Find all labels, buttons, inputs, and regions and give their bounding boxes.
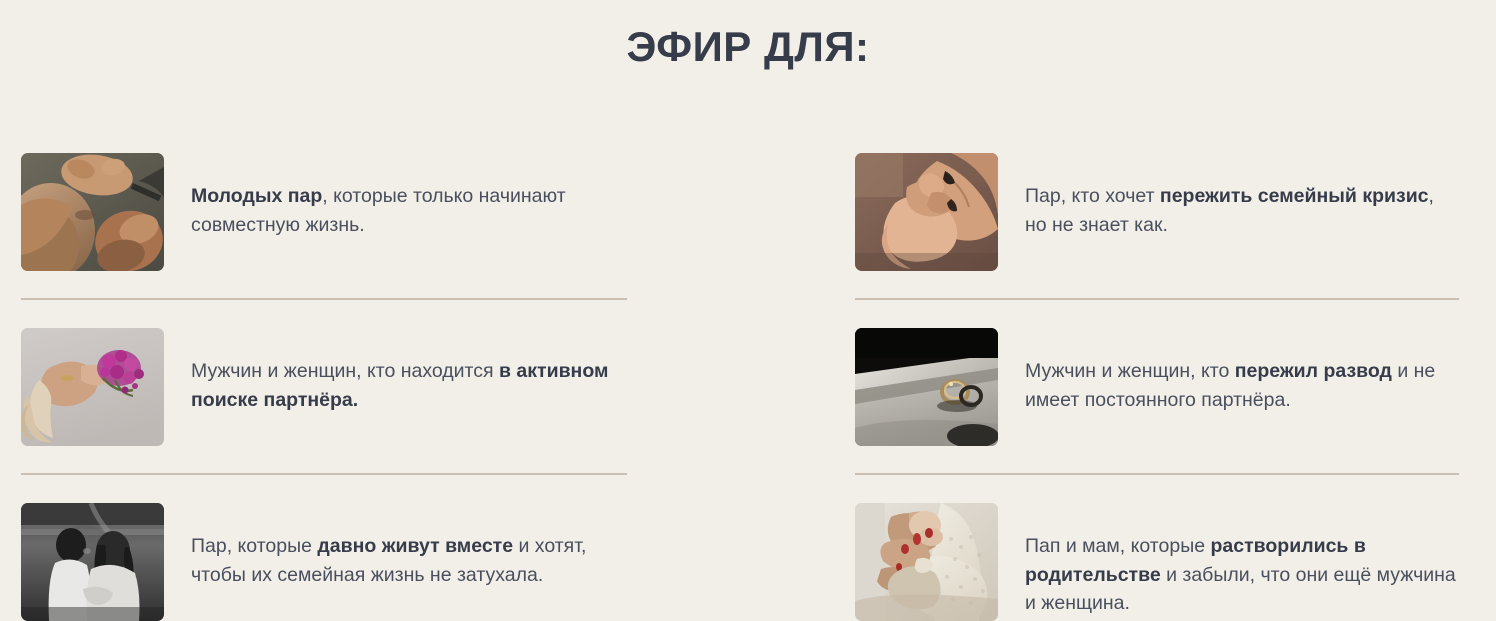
list-item: Пар, кто хочет пережить семейный кризис,…: [855, 153, 1459, 271]
list-item: Мужчин и женщин, кто пережил развод и не…: [855, 328, 1459, 446]
hand-holding-pink-flowers-photo: [21, 328, 164, 446]
audience-columns: Молодых пар, которые только начинают сов…: [0, 153, 1496, 621]
wedding-ring-in-light-beam-photo: [855, 328, 998, 446]
list-item: Пар, которые давно живут вместе и хотят,…: [21, 503, 627, 621]
divider: [855, 473, 1459, 475]
divider: [21, 298, 627, 300]
mother-holding-baby-photo: [855, 503, 998, 621]
clasped-hands-photo: [855, 153, 998, 271]
list-item: Молодых пар, которые только начинают сов…: [21, 153, 627, 271]
list-item: Мужчин и женщин, кто находится в активно…: [21, 328, 627, 446]
list-item-text: Пар, кто хочет пережить семейный кризис,…: [1025, 153, 1459, 239]
list-item-text: Молодых пар, которые только начинают сов…: [191, 153, 627, 239]
audience-column-right: Пар, кто хочет пережить семейный кризис,…: [855, 153, 1459, 621]
list-item-text: Мужчин и женщин, кто пережил развод и не…: [1025, 328, 1459, 414]
list-item: Пап и мам, которые растворились в родите…: [855, 503, 1459, 621]
couple-outdoors-bw-photo: [21, 503, 164, 621]
list-item-text: Мужчин и женщин, кто находится в активно…: [191, 328, 627, 414]
divider: [855, 298, 1459, 300]
audience-column-left: Молодых пар, которые только начинают сов…: [21, 153, 627, 621]
list-item-text: Пап и мам, которые растворились в родите…: [1025, 503, 1459, 618]
list-item-text: Пар, которые давно живут вместе и хотят,…: [191, 503, 627, 589]
divider: [21, 473, 627, 475]
page-title: ЭФИР ДЛЯ:: [0, 26, 1496, 68]
couple-lying-close-photo: [21, 153, 164, 271]
